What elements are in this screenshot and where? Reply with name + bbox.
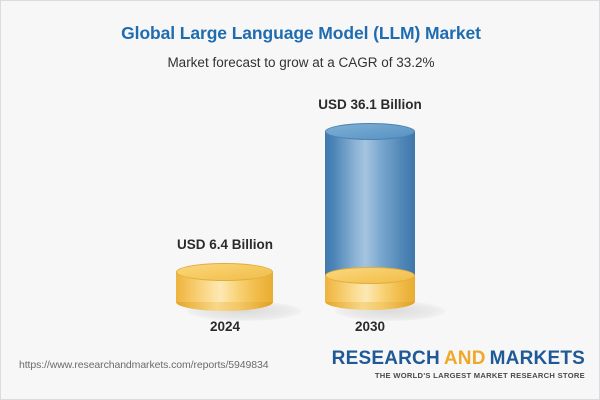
- source-url[interactable]: https://www.researchandmarkets.com/repor…: [19, 359, 268, 371]
- logo-tagline: THE WORLD'S LARGEST MARKET RESEARCH STOR…: [332, 371, 585, 380]
- research-and-markets-logo[interactable]: RESEARCHANDMARKETS THE WORLD'S LARGEST M…: [332, 349, 585, 380]
- chart-title: Global Large Language Model (LLM) Market: [1, 23, 600, 44]
- category-label-2030: 2030: [294, 319, 446, 334]
- logo-wordmark: RESEARCHANDMARKETS: [332, 349, 585, 369]
- logo-word-and: AND: [444, 348, 486, 369]
- plot-area: USD 6.4 Billion 2024 USD 36.1 Billion 20…: [1, 79, 600, 341]
- logo-word-markets: MARKETS: [490, 348, 585, 369]
- bar-2030-segment-divider-cap: [325, 267, 415, 284]
- footer: https://www.researchandmarkets.com/repor…: [1, 341, 600, 399]
- value-label-2024: USD 6.4 Billion: [149, 237, 301, 252]
- bar-2024-top-cap: [176, 263, 273, 281]
- value-label-2030: USD 36.1 Billion: [294, 97, 446, 112]
- bar-2030-growth-segment: [325, 132, 415, 276]
- bar-2030-top-cap: [325, 123, 415, 140]
- category-label-2024: 2024: [149, 319, 301, 334]
- logo-word-research: RESEARCH: [332, 348, 440, 369]
- chart-subtitle: Market forecast to grow at a CAGR of 33.…: [1, 55, 600, 70]
- market-forecast-chart-card: Global Large Language Model (LLM) Market…: [0, 0, 600, 400]
